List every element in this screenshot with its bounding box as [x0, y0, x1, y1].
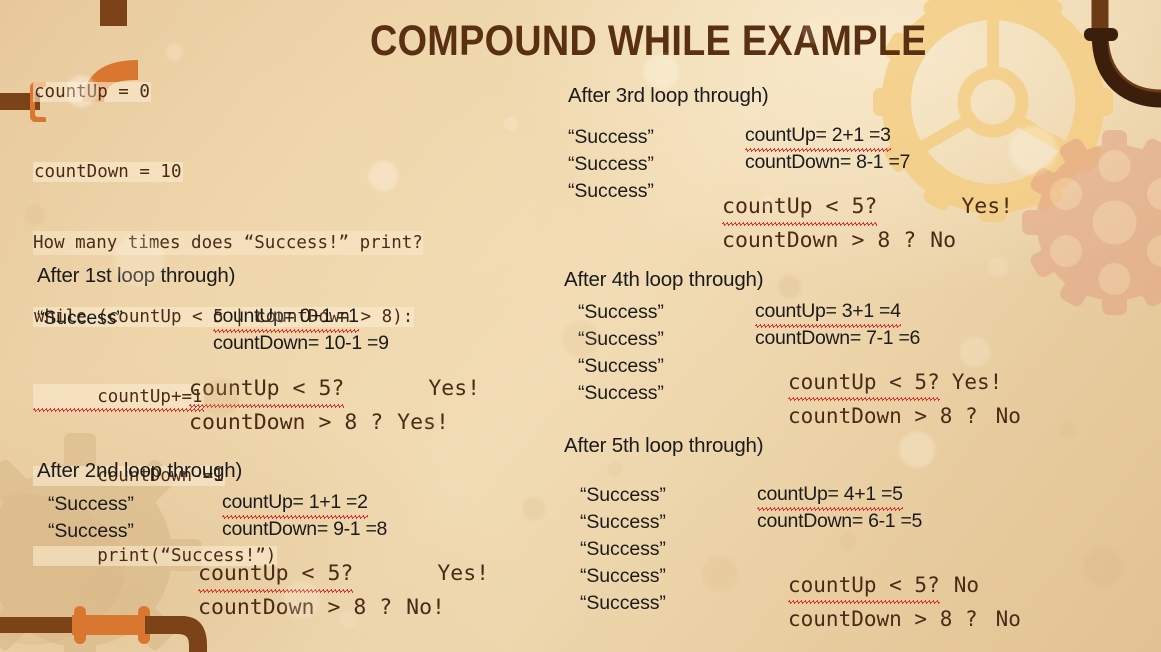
loop-5-value-1: countDown= 6-1 =5 — [757, 508, 922, 535]
loop-2-success-0: “Success” — [48, 491, 134, 518]
loop-3-success-list: “Success” “Success” “Success” — [568, 124, 654, 205]
page-title: COMPOUND WHILE EXAMPLE — [370, 17, 810, 65]
code-line-1: countDown = 10 — [33, 159, 414, 186]
loop-5-success-1: “Success” — [580, 509, 666, 536]
loop-2-heading: After 2nd loop through) — [37, 459, 242, 483]
loop-4-success-0: “Success” — [578, 299, 664, 326]
loop-2-check-1: countDown > 8 ?No! — [198, 591, 489, 625]
question-prompt: How many times does “Success!” print? — [33, 231, 423, 255]
loop-2-check-0: countUp < 5?Yes! — [198, 557, 489, 591]
loop-1-checks: countUp < 5?Yes! countDown > 8 ?Yes! — [189, 372, 480, 440]
loop-1-heading: After 1st loop through) — [37, 264, 235, 288]
loop-3-heading: After 3rd loop through) — [568, 84, 769, 108]
loop-4-success-3: “Success” — [578, 380, 664, 407]
loop-2-values: countUp= 1+1 =2 countDown= 9-1 =8 — [222, 489, 387, 543]
loop-3-success-2: “Success” — [568, 178, 654, 205]
loop-5-check-1: countDown > 8 ?No — [788, 602, 1021, 636]
loop-1-value-1: countDown= 10-1 =9 — [213, 330, 389, 357]
loop-2-checks: countUp < 5?Yes! countDown > 8 ?No! — [198, 557, 489, 625]
loop-3-value-1: countDown= 8-1 =7 — [745, 149, 910, 176]
loop-5-success-2: “Success” — [580, 536, 666, 563]
loop-4-success-2: “Success” — [578, 353, 664, 380]
loop-5-success-0: “Success” — [580, 482, 666, 509]
loop-1-values: countUp= 0+1 =1 countDown= 10-1 =9 — [213, 303, 389, 357]
loop-1-success-list: “Success” — [37, 305, 123, 332]
loop-4-success-1: “Success” — [578, 326, 664, 353]
loop-5-success-list: “Success” “Success” “Success” “Success” … — [580, 482, 666, 617]
loop-4-check-1: countDown > 8 ?No — [788, 399, 1021, 433]
loop-4-check-0: countUp < 5?Yes! — [788, 365, 1021, 399]
loop-3-values: countUp= 2+1 =3 countDown= 8-1 =7 — [745, 122, 910, 176]
loop-5-value-0: countUp= 4+1 =5 — [757, 481, 922, 508]
loop-4-checks: countUp < 5?Yes! countDown > 8 ?No — [788, 365, 1021, 433]
loop-5-success-4: “Success” — [580, 590, 666, 617]
loop-3-value-0: countUp= 2+1 =3 — [745, 122, 910, 149]
top-right-small-gear-icon — [1022, 130, 1161, 315]
loop-5-checks: countUp < 5?No countDown > 8 ?No — [788, 568, 1021, 636]
loop-4-values: countUp= 3+1 =4 countDown= 7-1 =6 — [755, 298, 920, 352]
loop-3-checks: countUp < 5?Yes! countDown > 8 ?No — [722, 190, 1013, 258]
loop-2-success-list: “Success” “Success” — [48, 491, 134, 545]
loop-3-success-1: “Success” — [568, 151, 654, 178]
loop-3-success-0: “Success” — [568, 124, 654, 151]
loop-2-success-1: “Success” — [48, 518, 134, 545]
loop-4-success-list: “Success” “Success” “Success” “Success” — [578, 299, 664, 407]
loop-1-check-1: countDown > 8 ?Yes! — [189, 406, 480, 440]
loop-3-check-1: countDown > 8 ?No — [722, 224, 1013, 258]
loop-1-value-0: countUp= 0+1 =1 — [213, 303, 389, 330]
slide-canvas: COMPOUND WHILE EXAMPLE countUp = 0 count… — [0, 0, 1161, 652]
loop-5-check-0: countUp < 5?No — [788, 568, 1021, 602]
top-right-curved-pipe-icon — [1080, 0, 1161, 119]
loop-4-heading: After 4th loop through) — [564, 268, 763, 292]
top-left-vertical-pipe — [100, 0, 127, 26]
loop-1-check-0: countUp < 5?Yes! — [189, 372, 480, 406]
loop-5-success-3: “Success” — [580, 563, 666, 590]
loop-2-value-0: countUp= 1+1 =2 — [222, 489, 387, 516]
loop-1-success-0: “Success” — [37, 305, 123, 332]
loop-5-values: countUp= 4+1 =5 countDown= 6-1 =5 — [757, 481, 922, 535]
code-line-0: countUp = 0 — [33, 79, 414, 106]
loop-5-heading: After 5th loop through) — [564, 434, 763, 458]
loop-3-check-0: countUp < 5?Yes! — [722, 190, 1013, 224]
loop-4-value-0: countUp= 3+1 =4 — [755, 298, 920, 325]
loop-4-value-1: countDown= 7-1 =6 — [755, 325, 920, 352]
loop-2-value-1: countDown= 9-1 =8 — [222, 516, 387, 543]
